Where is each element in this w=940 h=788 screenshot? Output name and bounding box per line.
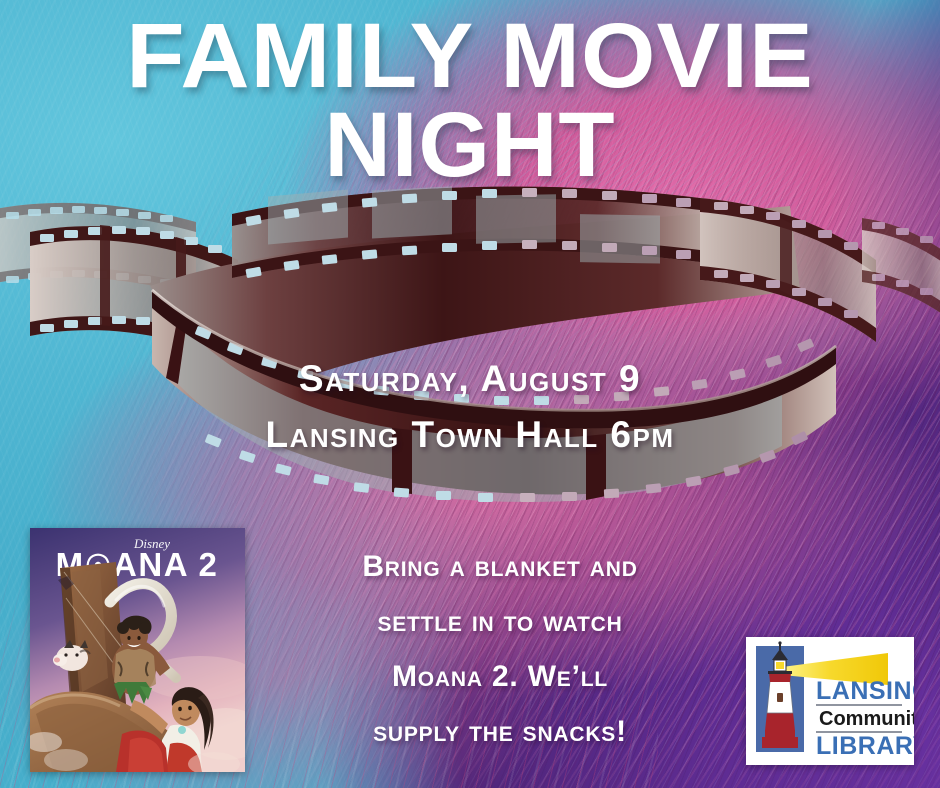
flyer-poster: FAMILY MOVIE NIGHT	[0, 0, 940, 788]
film-strip-graphic	[0, 178, 940, 538]
logo-line-lansing: LANSING	[816, 677, 914, 705]
logo-line-library: LIBRARY	[816, 732, 914, 760]
logo-text: LANSING Community LIBRARY	[816, 677, 914, 760]
lansing-community-library-logo: LANSING Community LIBRARY	[746, 637, 914, 765]
moana-2-movie-poster: Disney M☉ANA 2	[30, 528, 245, 772]
logo-line-community: Community	[819, 708, 914, 730]
